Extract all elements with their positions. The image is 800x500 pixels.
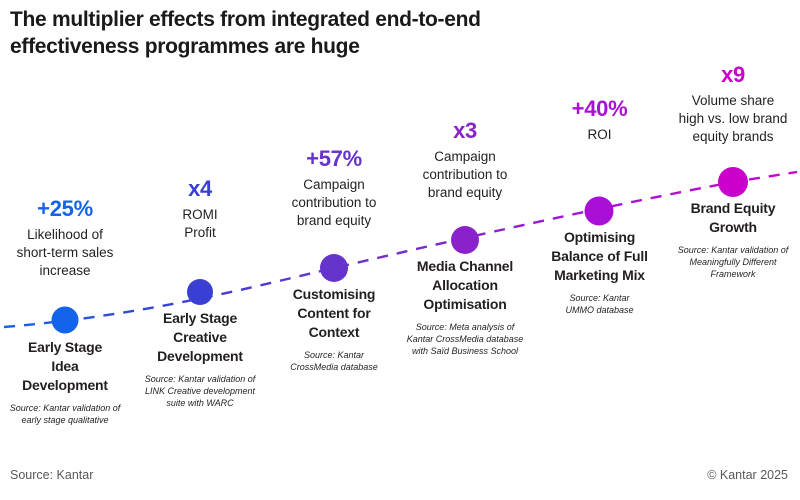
node-source: Source: Meta analysis ofKantar CrossMedi… [398, 321, 532, 357]
node-label: OptimisingBalance of FullMarketing Mix [533, 228, 666, 285]
stat-description: ROMIProfit [133, 206, 267, 242]
stat-value: +57% [268, 146, 400, 172]
stat-description: ROI [533, 126, 666, 144]
node-label: Media ChannelAllocationOptimisation [398, 257, 532, 314]
node-label: CustomisingContent forContext [268, 285, 400, 342]
stat-value: x4 [133, 176, 267, 202]
node-marker-dot[interactable] [451, 226, 479, 254]
stat-value: +25% [0, 196, 135, 222]
journey-chart: +25% Likelihood ofshort-term salesincrea… [0, 0, 800, 500]
node-source: Source: Kantar validation ofLINK Creativ… [133, 373, 267, 409]
node-marker-dot[interactable] [52, 307, 79, 334]
node-marker-dot[interactable] [718, 167, 748, 197]
node-marker-dot[interactable] [187, 279, 213, 305]
stat-description: Likelihood ofshort-term salesincrease [0, 226, 135, 280]
stat-value: x3 [398, 118, 532, 144]
node-label: Brand EquityGrowth [664, 199, 800, 237]
node-label: Early StageCreativeDevelopment [133, 309, 267, 366]
stat-description: Campaigncontribution tobrand equity [268, 176, 400, 230]
node-source: Source: KantarCrossMedia database [268, 349, 400, 373]
stat-description: Volume sharehigh vs. low brandequity bra… [664, 92, 800, 146]
stat-value: +40% [533, 96, 666, 122]
footer-source: Source: Kantar [10, 468, 93, 482]
node-source: Source: Kantar validation ofMeaningfully… [664, 244, 800, 280]
node-marker-dot[interactable] [320, 254, 348, 282]
stat-value: x9 [664, 62, 800, 88]
node-source: Source: Kantar validation ofearly stage … [0, 402, 135, 426]
footer-copyright: © Kantar 2025 [707, 468, 788, 482]
node-label: Early StageIdeaDevelopment [0, 338, 135, 395]
stat-description: Campaigncontribution tobrand equity [398, 148, 532, 202]
node-source: Source: KantarUMMO database [533, 292, 666, 316]
node-marker-dot[interactable] [585, 197, 614, 226]
